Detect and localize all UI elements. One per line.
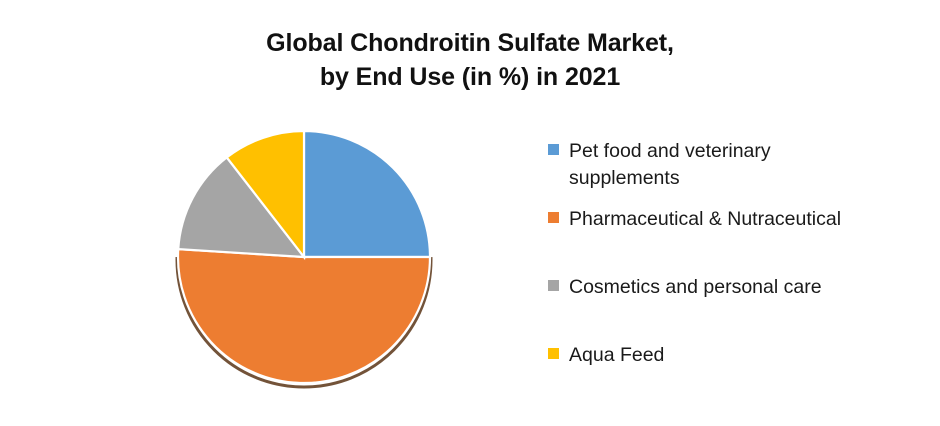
chart-title-line-2: by End Use (in %) in 2021 — [0, 60, 940, 94]
legend-item-pharmaceutical[interactable]: Pharmaceutical & Nutraceutical — [548, 206, 841, 233]
chart-title-line-1: Global Chondroitin Sulfate Market, — [0, 26, 940, 60]
legend-swatch-cosmetics — [548, 280, 559, 291]
pie-slice-pet-food[interactable] — [304, 131, 430, 257]
legend-swatch-pharmaceutical — [548, 212, 559, 223]
pie-plot-area — [155, 120, 455, 400]
legend-item-pet-food[interactable]: Pet food and veterinary supplements — [548, 138, 819, 192]
legend-item-aqua-feed[interactable]: Aqua Feed — [548, 342, 664, 369]
legend-label-cosmetics: Cosmetics and personal care — [569, 274, 822, 301]
chart-title: Global Chondroitin Sulfate Market, by En… — [0, 26, 940, 94]
legend-label-aqua-feed: Aqua Feed — [569, 342, 664, 369]
legend-swatch-aqua-feed — [548, 348, 559, 359]
legend-item-cosmetics[interactable]: Cosmetics and personal care — [548, 274, 822, 301]
pie-chart-figure: Global Chondroitin Sulfate Market, by En… — [0, 0, 940, 426]
legend-label-pet-food: Pet food and veterinary supplements — [569, 138, 819, 192]
pie-slice-pharmaceutical[interactable] — [178, 249, 430, 383]
legend-swatch-pet-food — [548, 144, 559, 155]
pie-svg — [155, 120, 455, 400]
legend-label-pharmaceutical: Pharmaceutical & Nutraceutical — [569, 206, 841, 233]
pie-slices — [178, 131, 430, 383]
